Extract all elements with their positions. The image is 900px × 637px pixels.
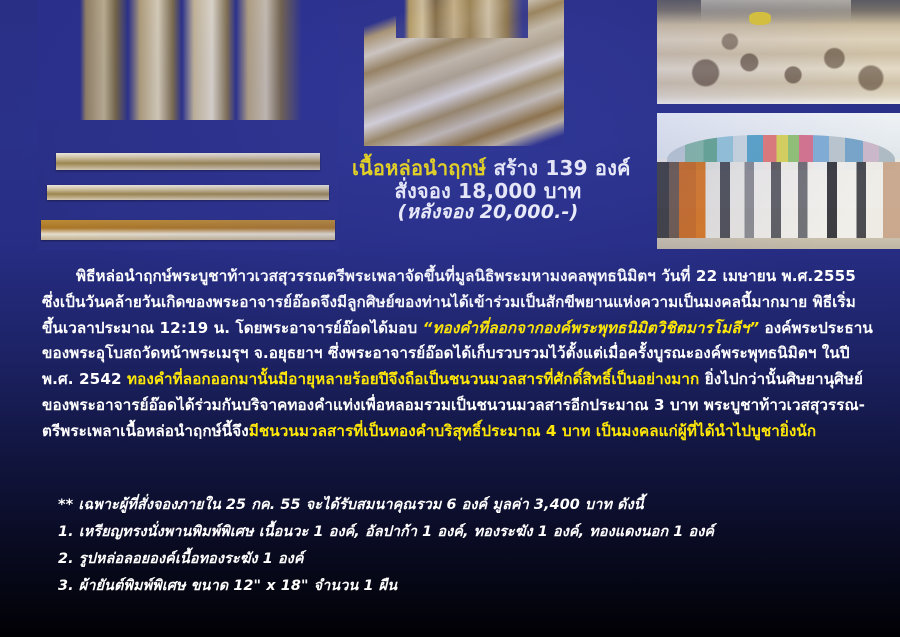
statue-figures-detail (396, 0, 528, 38)
caption-postorder-price: (หลังจอง 20,000.-) (352, 202, 624, 223)
base-tier-3 (41, 220, 335, 240)
photo-statue-base-large (38, 0, 338, 250)
paragraph-line-1: พิธีหล่อนำฤกษ์พระบูชาท้าวเวสสุวรรณตรีพระ… (42, 264, 860, 290)
bonus-item-2: 2. รูปหล่อลอยองค์เนื้อทองระฆัง 1 องค์ (58, 546, 858, 573)
statue-base-closeup-image (364, 0, 564, 146)
pure-gold-highlight: มีชนวนมวลสารที่เป็นทองคำบริสุทธิ์ประมาณ … (249, 422, 816, 440)
paragraph-line-5: พ.ศ. 2542 ทองคำที่ลอกออกมานั้นมีอายุหลาย… (42, 367, 860, 393)
paragraph-line-2: ซึ่งเป็นวันคล้ายวันเกิดของพระอาจารย์อ๊อด… (42, 290, 860, 316)
bonus-item-1: 1. เหรียญทรงนั่งพานพิมพ์พิเศษ เนื้อนวะ 1… (58, 519, 858, 546)
devotees-detail (657, 162, 900, 238)
product-caption: เนื้อหล่อนำฤกษ์ สร้าง 139 องค์ สั่งจอง 1… (352, 157, 624, 224)
photo-offerings-pile (657, 0, 900, 104)
caption-quantity-label: สร้าง 139 องค์ (493, 156, 630, 180)
photo-ceremony-crowd (657, 113, 900, 249)
base-tier-1 (56, 153, 320, 171)
offerings-pile-image (657, 0, 900, 104)
paragraph-line-4: ของพระอุโบสถวัดหน้าพระเมรุฯ จ.อยุธยาฯ ซึ… (42, 341, 860, 367)
yellow-cloth-detail (749, 12, 771, 24)
smoke-detail (701, 0, 852, 23)
base-tier-2 (47, 185, 329, 200)
preorder-bonus-list: ** เฉพาะผู้ที่สั่งจองภายใน 25 กค. 55 จะไ… (58, 492, 858, 600)
photo-statue-base-closeup (364, 0, 564, 146)
amulet-promotional-poster: เนื้อหล่อนำฤกษ์ สร้าง 139 องค์ สั่งจอง 1… (0, 0, 900, 637)
ceremony-crowd-image (657, 113, 900, 249)
bonus-item-3: 3. ผ้ายันต์พิมพ์พิเศษ ขนาด 12" x 18" จำน… (58, 573, 858, 600)
paragraph-line-3: ขึ้นเวลาประมาณ 12:19 น. โดยพระอาจารย์อ๊อ… (42, 316, 860, 342)
bonus-note: ** เฉพาะผู้ที่สั่งจองภายใน 25 กค. 55 จะไ… (58, 492, 858, 519)
paragraph-line-6: ของพระอาจารย์อ๊อดได้ร่วมกันบริจาคทองคำแท… (42, 393, 860, 419)
sacred-material-highlight: ทองคำที่ลอกออกมานั้นมีอายุหลายร้อยปีจึงถ… (127, 370, 699, 388)
description-paragraph: พิธีหล่อนำฤกษ์พระบูชาท้าวเวสสุวรรณตรีพระ… (42, 264, 860, 445)
gold-quote-highlight: “ทองคำที่ลอกจากองค์พระพุทธนิมิตวิชิตมารโ… (423, 319, 760, 337)
caption-material-label: เนื้อหล่อนำฤกษ์ (352, 156, 486, 180)
statue-base-large-image (38, 0, 338, 250)
caption-preorder-price: สั่งจอง 18,000 บาท (352, 180, 624, 203)
caption-line-material-quantity: เนื้อหล่อนำฤกษ์ สร้าง 139 องค์ (352, 157, 624, 180)
statue-legs-detail (38, 0, 338, 120)
paragraph-line-7: ตรีพระเพลาเนื้อหล่อนำฤกษ์นี้จึงมีชนวนมวล… (42, 419, 860, 445)
